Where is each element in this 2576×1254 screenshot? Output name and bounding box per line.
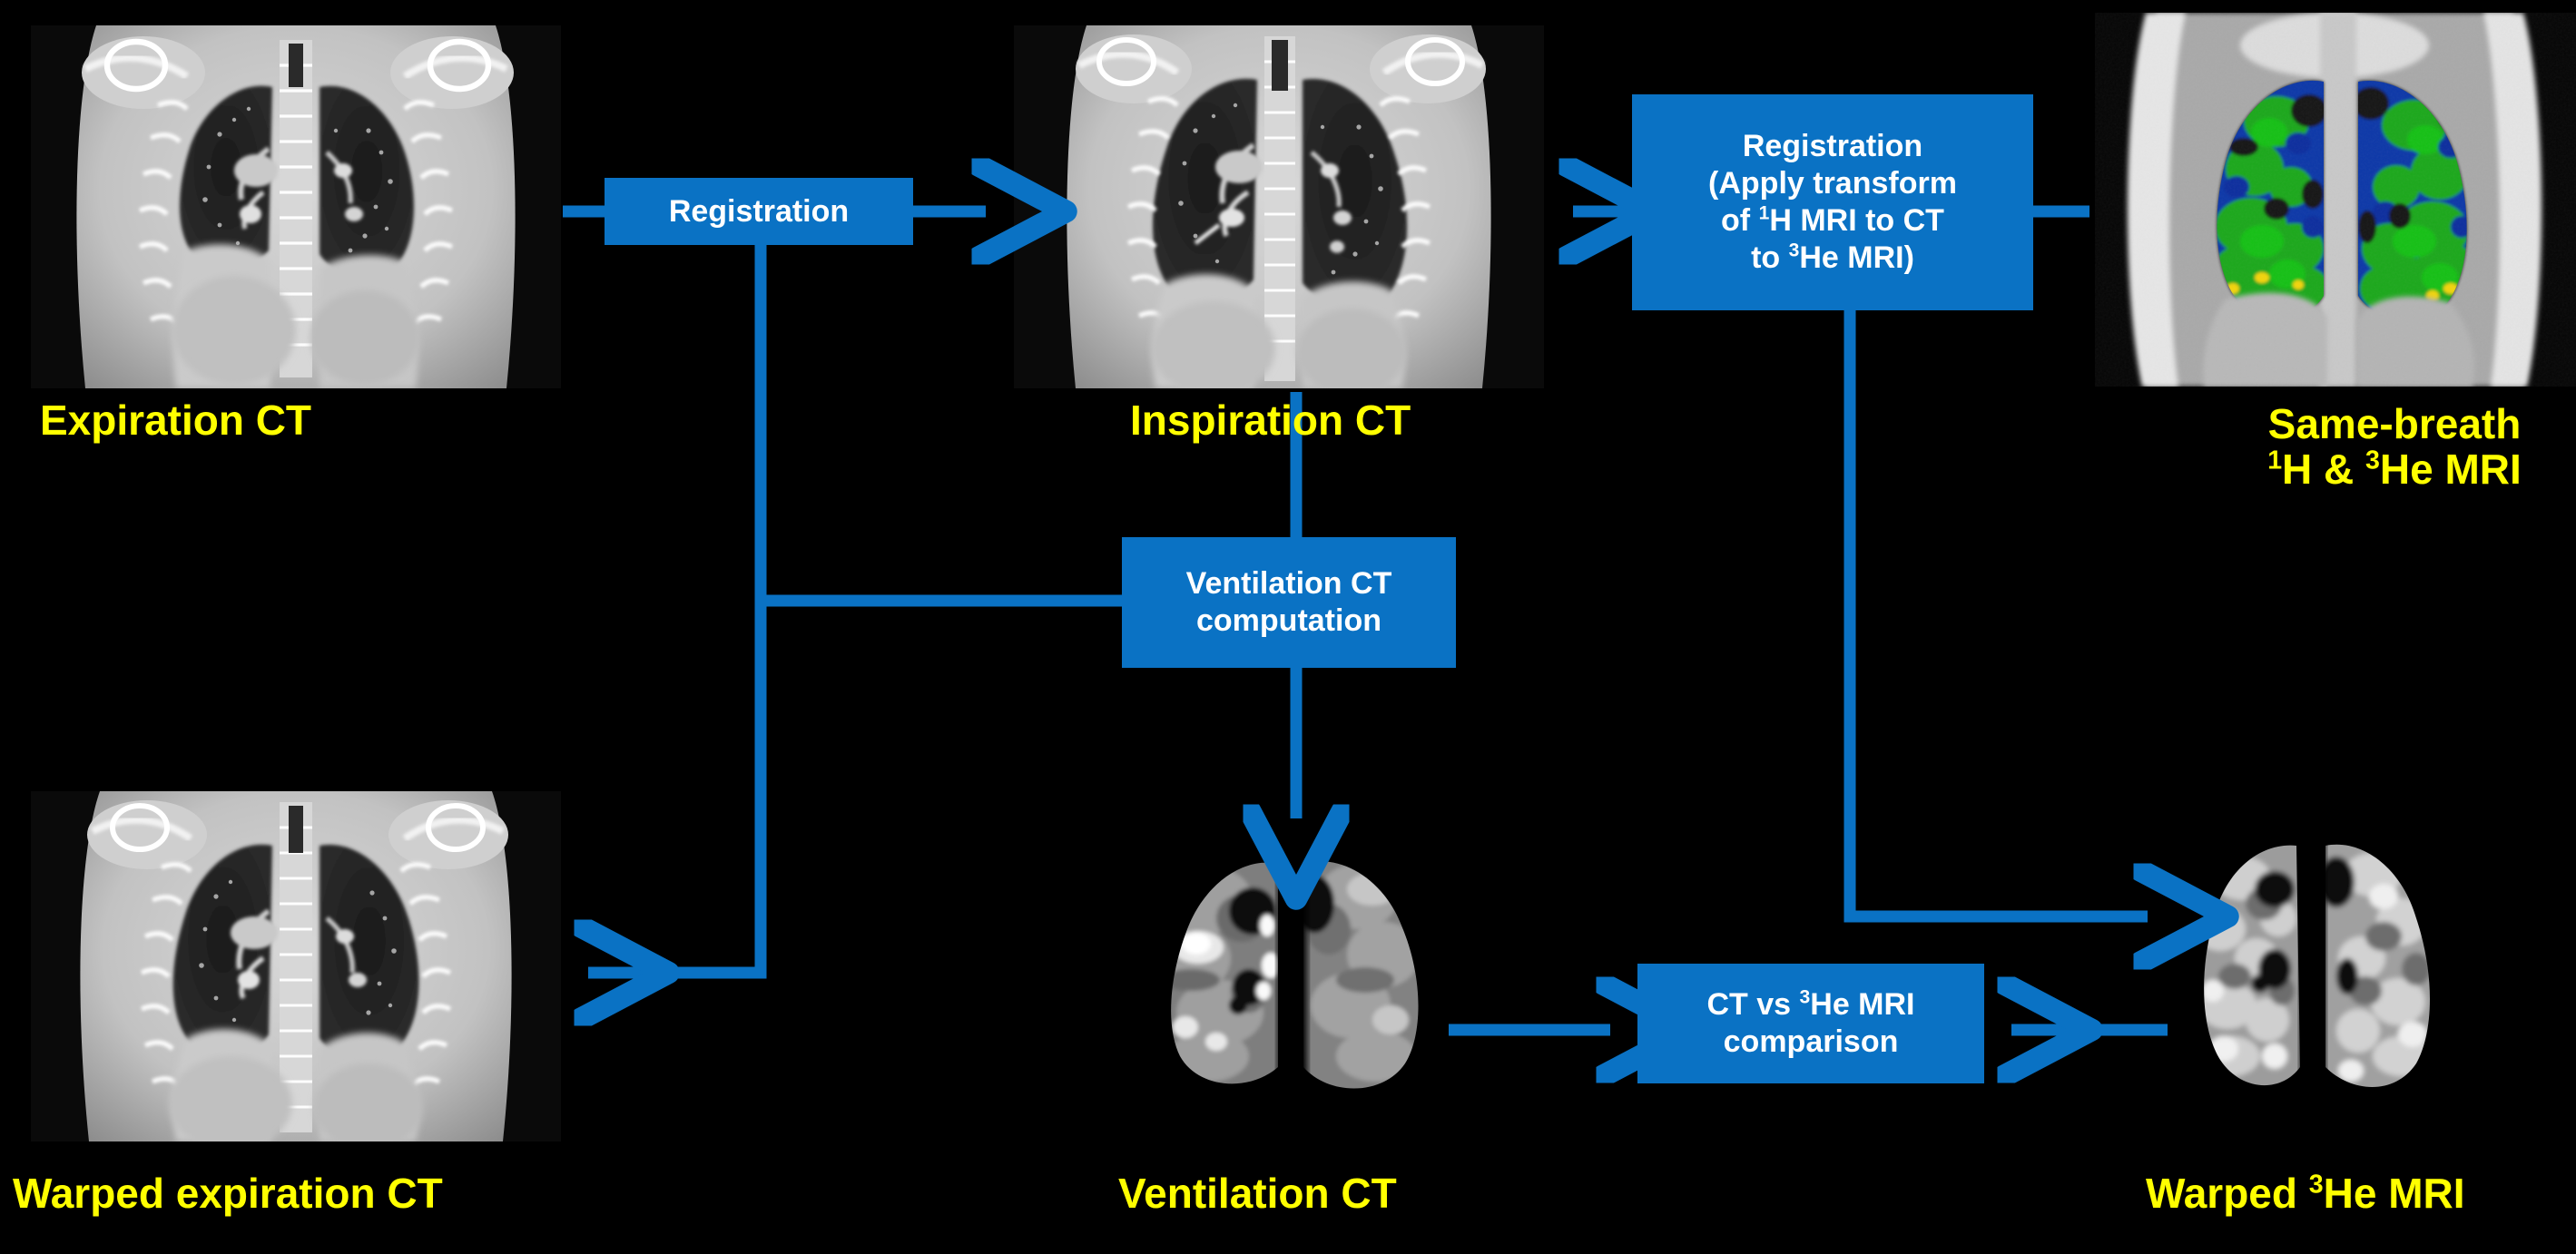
expiration-ct-image	[31, 25, 561, 388]
comparison-post: He MRI	[1810, 987, 1914, 1022]
box-comparison[interactable]: CT vs 3He MRI comparison	[1637, 964, 1984, 1083]
isotope-1h-sup: 1	[1759, 203, 1770, 224]
panel-warped-expiration-ct	[31, 791, 561, 1141]
same-breath-post: He MRI	[2380, 446, 2522, 493]
same-breath-mri-image	[2095, 13, 2576, 387]
caption-expiration-ct: Expiration CT	[40, 397, 311, 443]
box-registration-apply-line4: to 3He MRI)	[1751, 240, 1914, 277]
panel-warped-he-mri	[2169, 817, 2469, 1111]
ventilation-ct-image	[1136, 824, 1454, 1111]
caption-ventilation-ct: Ventilation CT	[1118, 1171, 1397, 1216]
line4-pre: to	[1751, 240, 1789, 275]
panel-same-breath-mri	[2095, 13, 2576, 387]
comparison-pre: CT vs	[1706, 987, 1799, 1022]
warped-he-pre: Warped	[2146, 1170, 2309, 1217]
isotope-3he-sup: 3	[2365, 446, 2380, 475]
box-ventilation-computation-line2: computation	[1196, 603, 1381, 640]
figure-canvas: Registration Registration (Apply transfo…	[0, 0, 2576, 1254]
isotope-3he-sup: 3	[2309, 1171, 2324, 1200]
caption-same-breath-line2: 1H & 3He MRI	[2213, 446, 2576, 492]
inspiration-ct-image	[1014, 25, 1544, 388]
line4-post: He MRI)	[1799, 240, 1914, 275]
box-registration[interactable]: Registration	[605, 178, 913, 245]
panel-inspiration-ct	[1014, 25, 1544, 388]
isotope-3he-sup: 3	[1800, 987, 1811, 1008]
caption-warped-expiration-ct: Warped expiration CT	[13, 1171, 443, 1216]
box-comparison-line1: CT vs 3He MRI	[1706, 986, 1914, 1024]
line3-post: H MRI to CT	[1769, 203, 1944, 238]
box-comparison-line2: comparison	[1724, 1024, 1899, 1061]
wire-registration-apply-to-warped-he	[1850, 310, 2148, 916]
isotope-3he-sup: 3	[1789, 240, 1800, 261]
caption-same-breath-mri: Same-breath 1H & 3He MRI	[2213, 401, 2576, 492]
box-registration-apply[interactable]: Registration (Apply transform of 1H MRI …	[1632, 94, 2033, 310]
panel-expiration-ct	[31, 25, 561, 388]
box-ventilation-computation-line1: Ventilation CT	[1186, 565, 1392, 603]
warped-he-post: He MRI	[2324, 1170, 2465, 1217]
caption-same-breath-line1: Same-breath	[2213, 401, 2576, 446]
box-ventilation-computation[interactable]: Ventilation CT computation	[1122, 537, 1456, 668]
box-registration-apply-line3: of 1H MRI to CT	[1721, 202, 1944, 240]
box-registration-apply-line2: (Apply transform	[1708, 165, 1957, 202]
caption-warped-he-mri: Warped 3He MRI	[2146, 1171, 2465, 1216]
box-registration-label: Registration	[669, 193, 849, 230]
line3-pre: of	[1721, 203, 1759, 238]
warped-expiration-ct-image	[31, 791, 561, 1141]
panel-ventilation-ct	[1136, 824, 1454, 1111]
wire-registration-to-warped-expiration	[588, 245, 761, 973]
box-registration-apply-line1: Registration	[1743, 128, 1922, 165]
caption-inspiration-ct: Inspiration CT	[1130, 397, 1411, 443]
warped-he-mri-image	[2169, 817, 2469, 1111]
same-breath-pre: H &	[2282, 446, 2365, 493]
isotope-1h-sup: 1	[2267, 446, 2282, 475]
